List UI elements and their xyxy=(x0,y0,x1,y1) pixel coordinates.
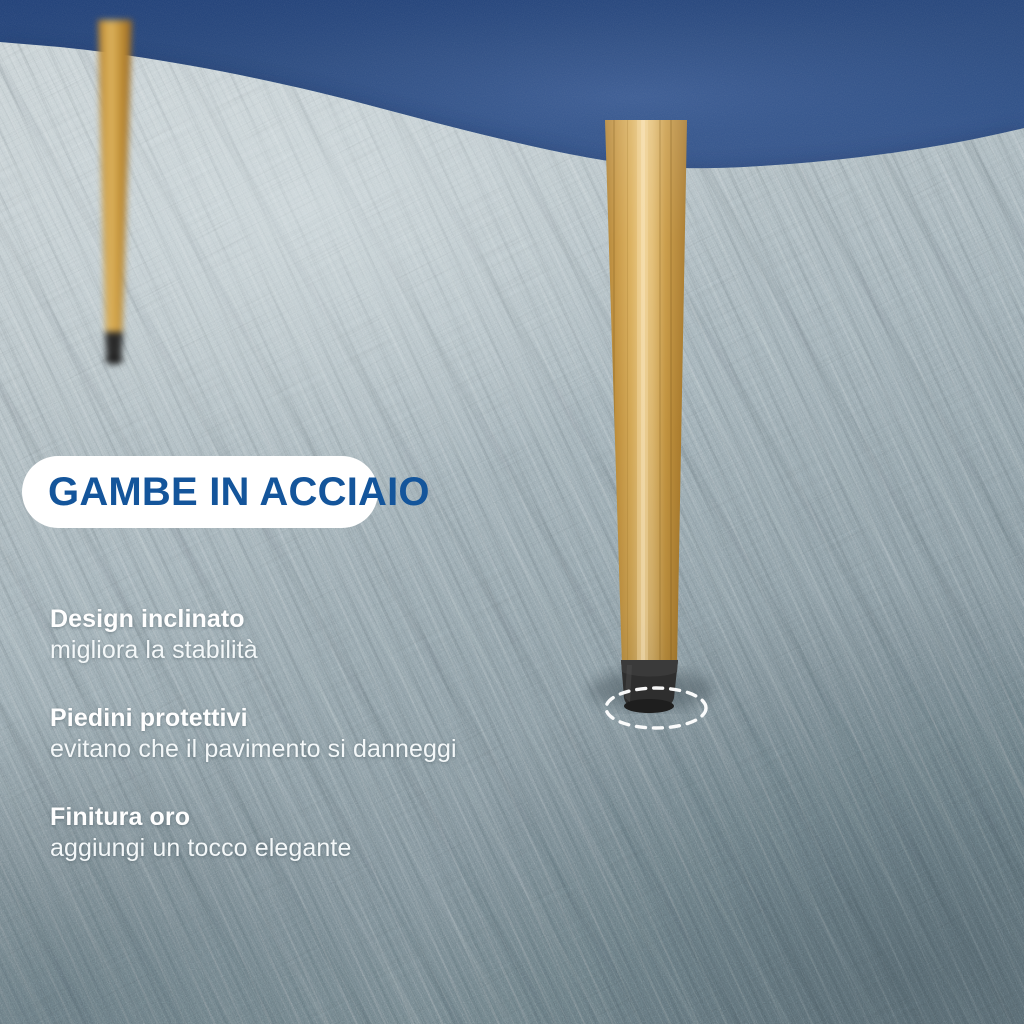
headline-text: GAMBE IN ACCIAIO xyxy=(22,456,430,528)
feature-subtitle: evitano che il pavimento si danneggi xyxy=(50,734,670,766)
feature-subtitle: aggiungi un tocco elegante xyxy=(50,833,670,865)
feature-subtitle: migliora la stabilità xyxy=(50,635,670,667)
feature-title: Design inclinato xyxy=(50,604,670,635)
feature-list: Design inclinato migliora la stabilità P… xyxy=(50,604,670,864)
product-detail-image: GAMBE IN ACCIAIO Design inclinato miglio… xyxy=(0,0,1024,1024)
chair-leg-left xyxy=(60,20,190,400)
feature-title: Piedini protettivi xyxy=(50,703,670,734)
feature-title: Finitura oro xyxy=(50,802,670,833)
feature-item-piedini-protettivi: Piedini protettivi evitano che il pavime… xyxy=(50,703,670,765)
feature-item-finitura-oro: Finitura oro aggiungi un tocco elegante xyxy=(50,802,670,864)
feature-item-design-inclinato: Design inclinato migliora la stabilità xyxy=(50,604,670,666)
